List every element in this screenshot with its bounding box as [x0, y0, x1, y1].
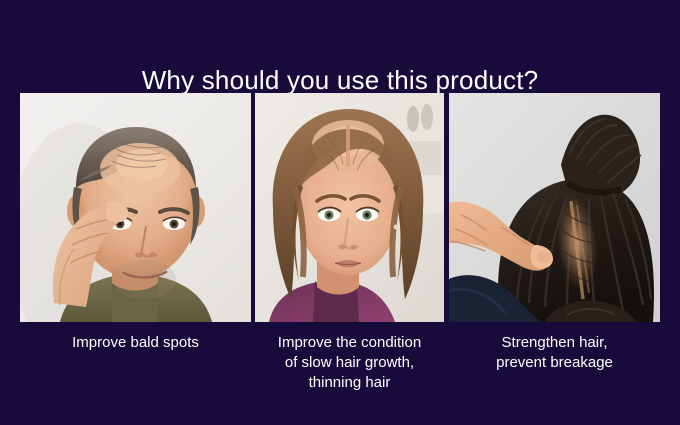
promo-slide: Why should you use this product? [0, 0, 680, 425]
caption-line: prevent breakage [449, 353, 660, 373]
caption-line: Improve the condition [255, 333, 444, 353]
photo-scalp-pointing-finger [449, 93, 660, 322]
photo-man-bald-spot [20, 93, 251, 322]
caption-line: Improve bald spots [20, 333, 251, 353]
image-panel-strengthen-hair[interactable] [449, 93, 660, 322]
photo-woman-thinning-hair [255, 93, 444, 322]
caption-strengthen-hair: Strengthen hair, prevent breakage [449, 333, 660, 373]
caption-line: Strengthen hair, [449, 333, 660, 353]
page-title: Why should you use this product? [0, 64, 680, 96]
image-panel-slow-hair-growth[interactable] [255, 93, 444, 322]
caption-line: thinning hair [255, 373, 444, 393]
caption-line: of slow hair growth, [255, 353, 444, 373]
caption-slow-hair-growth: Improve the condition of slow hair growt… [255, 333, 444, 393]
panel-row [20, 93, 660, 322]
caption-bald-spots: Improve bald spots [20, 333, 251, 353]
image-panel-bald-spots[interactable] [20, 93, 251, 322]
